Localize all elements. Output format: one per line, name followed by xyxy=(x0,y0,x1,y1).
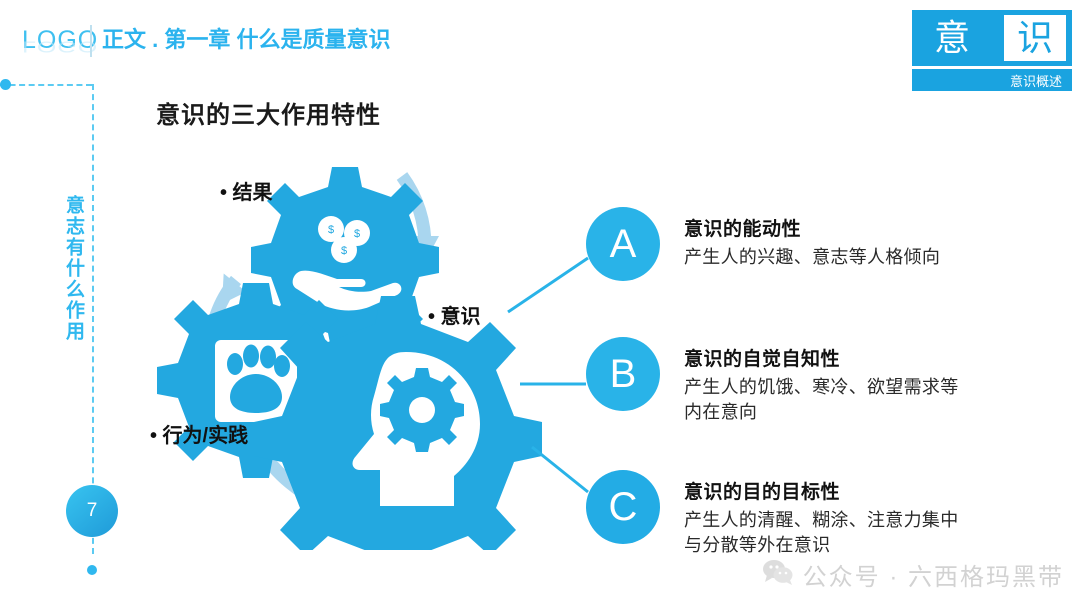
feature-item-c[interactable]: C 意识的目的目标性 产生人的清醒、糊涂、注意力集中与分散等外在意识 xyxy=(586,470,959,559)
rail-dot-top xyxy=(0,79,11,90)
feature-item-a[interactable]: A 意识的能动性 产生人的兴趣、意志等人格倾向 xyxy=(586,207,940,281)
feature-text-a: 意识的能动性 产生人的兴趣、意志等人格倾向 xyxy=(684,207,940,270)
header-divider xyxy=(90,25,92,57)
slide-heading: 意识的三大作用特性 xyxy=(156,95,381,130)
feature-text-b: 意识的自觉自知性 产生人的饥饿、寒冷、欲望需求等内在意向 xyxy=(684,337,959,426)
feature-desc-b: 产生人的饥饿、寒冷、欲望需求等内在意向 xyxy=(684,375,959,426)
feature-item-b[interactable]: B 意识的自觉自知性 产生人的饥饿、寒冷、欲望需求等内在意向 xyxy=(586,337,959,426)
rail-dot-bottom xyxy=(87,565,97,575)
label-consciousness: • 意识 xyxy=(428,300,481,329)
svg-text:$: $ xyxy=(341,245,347,257)
section-badge-char-2-box: 识 xyxy=(1004,15,1066,61)
svg-text:$: $ xyxy=(328,224,334,236)
section-badge-main: 意 识 xyxy=(912,10,1072,66)
rail-dashed-line xyxy=(92,84,94,554)
feature-title-a: 意识的能动性 xyxy=(684,217,940,243)
page-number-badge: 7 xyxy=(66,485,118,537)
brain-gear-icon xyxy=(380,368,464,452)
feature-text-c: 意识的目的目标性 产生人的清醒、糊涂、注意力集中与分散等外在意识 xyxy=(684,470,959,559)
svg-text:$: $ xyxy=(354,228,360,240)
feature-letter-a: A xyxy=(586,207,660,281)
feature-letter-c: C xyxy=(586,470,660,544)
label-behavior: • 行为/实践 xyxy=(150,419,248,448)
feature-letter-b: B xyxy=(586,337,660,411)
feature-title-c: 意识的目的目标性 xyxy=(684,480,959,506)
slide-canvas: LOGO LOGO 正文 . 第一章 什么是质量意识 意 识 意识概述 意志有什… xyxy=(0,0,1080,608)
gear-diagram-svg: $ $ $ xyxy=(140,140,580,550)
section-badge-subtitle: 意识概述 xyxy=(912,69,1072,91)
section-badge-char-1: 意 xyxy=(912,20,992,56)
consciousness-gear xyxy=(254,296,542,550)
gear-diagram: $ $ $ xyxy=(140,140,580,550)
feature-desc-a: 产生人的兴趣、意志等人格倾向 xyxy=(684,245,940,271)
logo-reflection: LOGO xyxy=(22,39,98,55)
label-result: • 结果 xyxy=(220,176,273,205)
watermark-text: 公众号 · 六西格玛黑带 xyxy=(803,557,1064,592)
wechat-icon xyxy=(763,559,793,590)
section-badge-char-2: 识 xyxy=(1017,20,1053,56)
feature-title-b: 意识的自觉自知性 xyxy=(684,347,959,373)
feature-desc-c: 产生人的清醒、糊涂、注意力集中与分散等外在意识 xyxy=(684,508,959,559)
page-title: 正文 . 第一章 什么是质量意识 xyxy=(102,28,390,52)
rail-vertical-label: 意志有什么作用 xyxy=(56,195,86,342)
watermark: 公众号 · 六西格玛黑带 xyxy=(763,557,1064,592)
rail-top-connector xyxy=(0,84,92,86)
section-badge: 意 识 意识概述 xyxy=(912,10,1072,91)
